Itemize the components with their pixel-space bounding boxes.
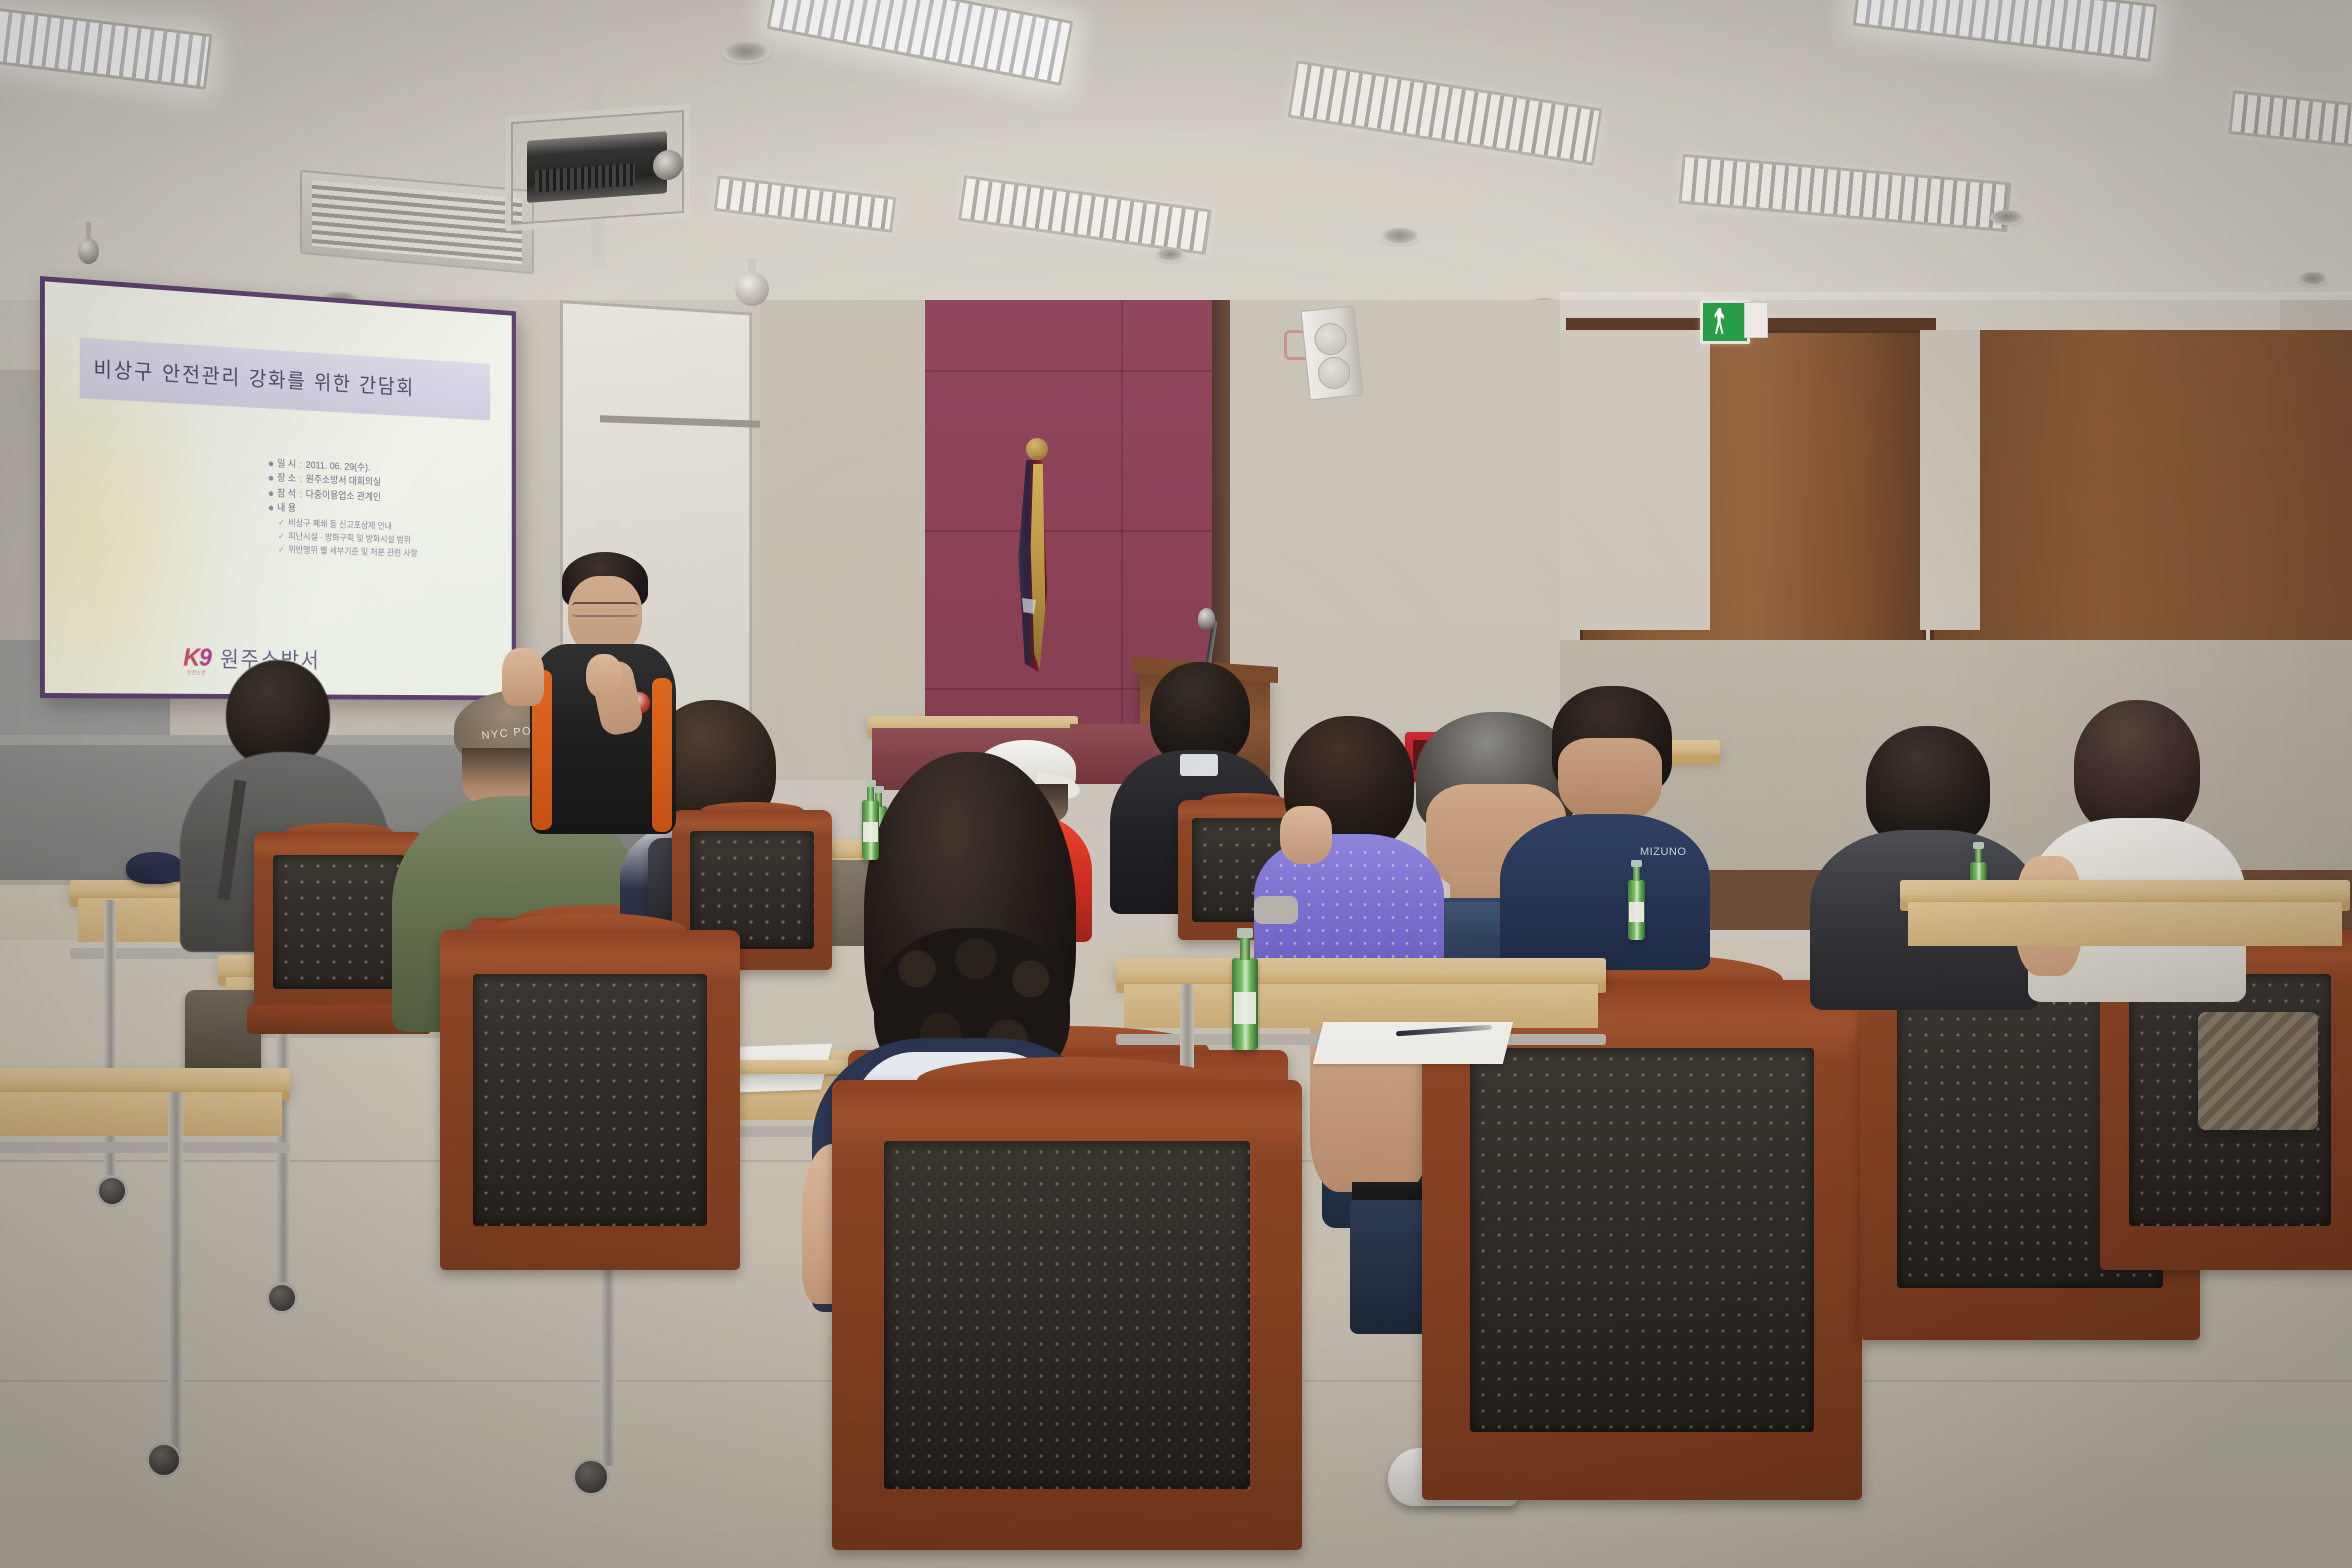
table-caster — [572, 1458, 610, 1496]
raised-hand — [502, 648, 544, 706]
water-bottle — [862, 800, 879, 860]
water-bottle — [1628, 880, 1645, 940]
flag — [1000, 438, 1070, 688]
bullet-value: 다중이용업소 관계인 — [306, 488, 381, 506]
presenter — [522, 552, 682, 832]
microphone-icon — [1198, 608, 1215, 630]
projection-screen: 비상구 안전관리 강화를 위한 간담회 일 시 : 2011. 06. 29(수… — [40, 276, 516, 700]
bullet-dot-icon — [269, 491, 274, 496]
bullet-label: 일 시 — [277, 457, 296, 473]
ceiling — [0, 0, 2352, 330]
recessed-downlight — [1155, 248, 1185, 262]
bullet-dot-icon — [269, 506, 274, 511]
sleeve-trim — [1254, 896, 1298, 924]
table-caster — [96, 1175, 128, 1207]
dome-camera-icon — [735, 272, 769, 306]
torso — [1500, 814, 1710, 970]
bullet-sep: : — [300, 473, 302, 488]
arm — [1280, 806, 1332, 864]
wall-speaker — [1300, 305, 1363, 400]
right-wall-beige-block — [1920, 330, 1980, 630]
slide-title-band: 비상구 안전관리 강화를 위한 간담회 — [80, 337, 490, 421]
exit-sign-housing — [1744, 302, 1768, 338]
bullet-sep: : — [300, 458, 302, 473]
handbag — [2198, 1012, 2318, 1130]
check-icon: ✓ — [278, 543, 285, 557]
chair[interactable] — [440, 930, 740, 1270]
bullet-label: 장 소 — [277, 472, 296, 488]
presenter-hand — [586, 654, 622, 698]
hair — [2074, 700, 2200, 836]
head — [1558, 738, 1662, 824]
table-leg — [168, 1092, 183, 1452]
check-icon: ✓ — [278, 516, 285, 530]
shoulder-text: MIZUNO — [1640, 846, 1706, 862]
right-wall-beige-block — [1560, 330, 1710, 630]
attendee — [1810, 726, 2040, 1006]
attendee: MIZUNO — [1500, 686, 1710, 966]
slide-bullet-list: 일 시 : 2011. 06. 29(수). 장 소 : 원주소방서 대회의실 … — [269, 456, 512, 563]
bullet-label: 내 용 — [277, 501, 296, 517]
training-table — [0, 1068, 290, 1092]
sub-bullet-text: 위반행위 별 세부기준 및 처분 관련 사항 — [288, 543, 417, 560]
slide-title: 비상구 안전관리 강화를 위한 간담회 — [80, 353, 415, 402]
water-bottle — [1232, 958, 1258, 1050]
table-caster — [266, 1282, 298, 1314]
bullet-dot-icon — [269, 461, 274, 466]
bullet-sep: : — [300, 487, 302, 502]
training-table — [1900, 880, 2350, 902]
training-table — [1116, 958, 1606, 984]
exit-sign-icon — [1700, 300, 1750, 344]
recessed-downlight — [1990, 210, 2024, 225]
recessed-downlight — [722, 42, 770, 63]
check-icon: ✓ — [278, 530, 285, 544]
table-leg — [104, 900, 116, 1180]
bullet-dot-icon — [269, 476, 274, 481]
recessed-downlight — [2298, 272, 2328, 286]
chair[interactable] — [832, 1080, 1302, 1550]
seminar-room-photo: 비상구 안전관리 강화를 위한 간담회 일 시 : 2011. 06. 29(수… — [0, 0, 2352, 1568]
collar — [1180, 754, 1218, 776]
table-caster — [146, 1442, 182, 1478]
flag-emblem — [1022, 598, 1036, 614]
sprinkler-head — [74, 222, 104, 274]
attendee — [2022, 700, 2252, 1000]
bullet-label: 참 석 — [277, 487, 296, 503]
uniform-accent — [652, 678, 672, 832]
recessed-downlight — [1380, 228, 1420, 245]
glasses-icon — [572, 602, 638, 617]
ceiling-projector — [505, 110, 690, 225]
attendee — [1254, 716, 1444, 976]
